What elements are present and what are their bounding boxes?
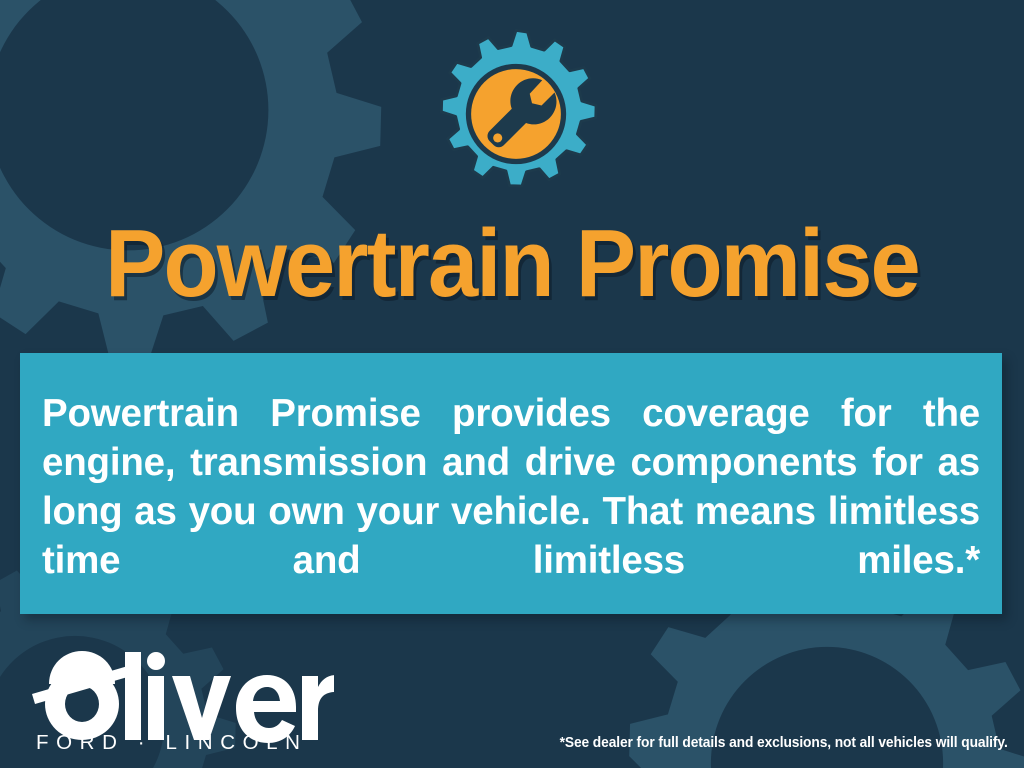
page-title: Powertrain Promise	[31, 212, 994, 316]
description-panel: Powertrain Promise provides coverage for…	[20, 353, 1002, 614]
promotional-graphic: Powertrain Promise Powertrain Promise pr…	[0, 0, 1024, 768]
description-text: Powertrain Promise provides coverage for…	[42, 389, 980, 634]
disclaimer-text: *See dealer for full details and exclusi…	[560, 735, 1008, 751]
dealer-logo-subtitle: FORD · LINCOLN	[36, 731, 308, 755]
powertrain-emblem	[428, 26, 604, 202]
